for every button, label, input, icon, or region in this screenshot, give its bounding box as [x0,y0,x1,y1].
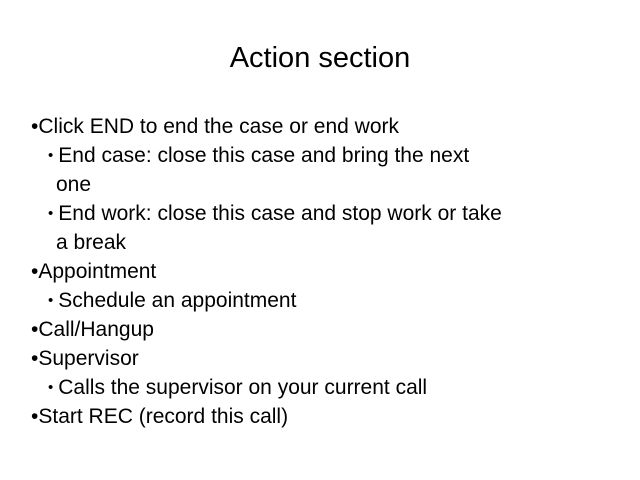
bullet-continuation: a break [28,228,612,257]
bullet-continuation: one [28,170,612,199]
bullet-label: Call/Hangup [38,318,154,341]
bullet-label: a break [56,231,126,254]
bullet-icon: • [48,379,53,396]
bullet-label: one [56,173,91,196]
bullet-icon: • [48,147,53,164]
list-item: •Start REC (record this call) [28,402,612,431]
list-item: •Click END to end the case or end work [28,112,612,141]
list-item: •Appointment [28,257,612,286]
bullet-label: End case: close this case and bring the … [58,144,469,167]
bullet-label: Supervisor [38,347,138,370]
list-item: •Supervisor [28,344,612,373]
bullet-icon: • [48,205,53,222]
bullet-label: End work: close this case and stop work … [58,202,502,225]
list-item: •End work: close this case and stop work… [28,199,612,228]
bullet-label: Start REC (record this call) [38,405,288,428]
bullet-label: Appointment [38,260,156,283]
list-item: •Schedule an appointment [28,286,612,315]
list-item: •End case: close this case and bring the… [28,141,612,170]
slide: Action section •Click END to end the cas… [0,0,640,480]
list-item: •Calls the supervisor on your current ca… [28,373,612,402]
bullet-list: •Click END to end the case or end work•E… [28,112,612,431]
bullet-icon: • [48,292,53,309]
list-item: •Call/Hangup [28,315,612,344]
bullet-label: Click END to end the case or end work [38,115,399,138]
page-title: Action section [0,40,640,76]
bullet-label: Calls the supervisor on your current cal… [58,376,427,399]
bullet-label: Schedule an appointment [58,289,296,312]
